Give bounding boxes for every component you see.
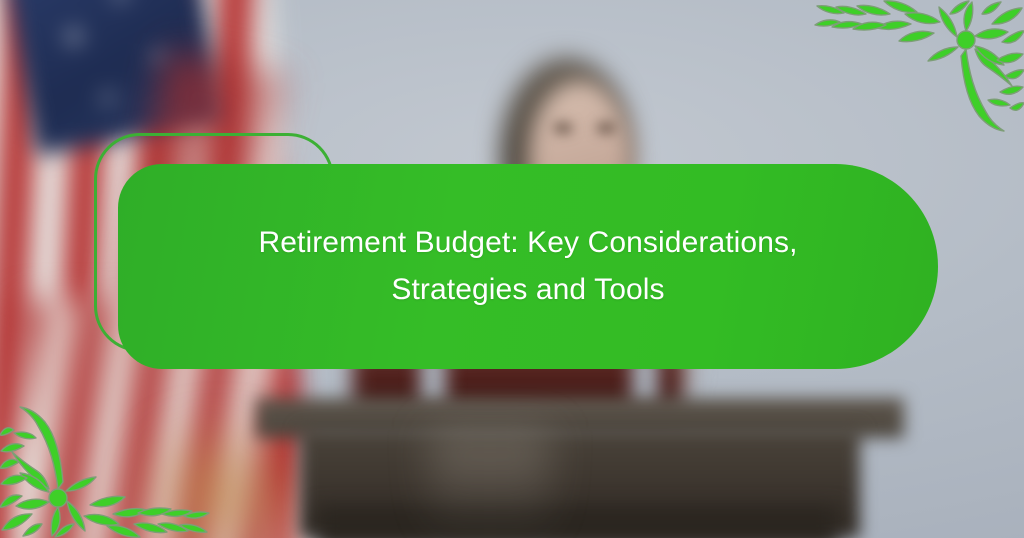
podium-highlight xyxy=(430,430,550,538)
flag-warm-highlight xyxy=(120,430,320,538)
speaker-eye-left xyxy=(553,122,573,134)
title-card: Retirement Budget: Key Considerations, S… xyxy=(118,164,938,369)
hero-banner: Retirement Budget: Key Considerations, S… xyxy=(0,0,1024,538)
speaker-eye-right xyxy=(596,122,616,134)
podium-base xyxy=(318,506,838,538)
page-title: Retirement Budget: Key Considerations, S… xyxy=(228,220,828,313)
